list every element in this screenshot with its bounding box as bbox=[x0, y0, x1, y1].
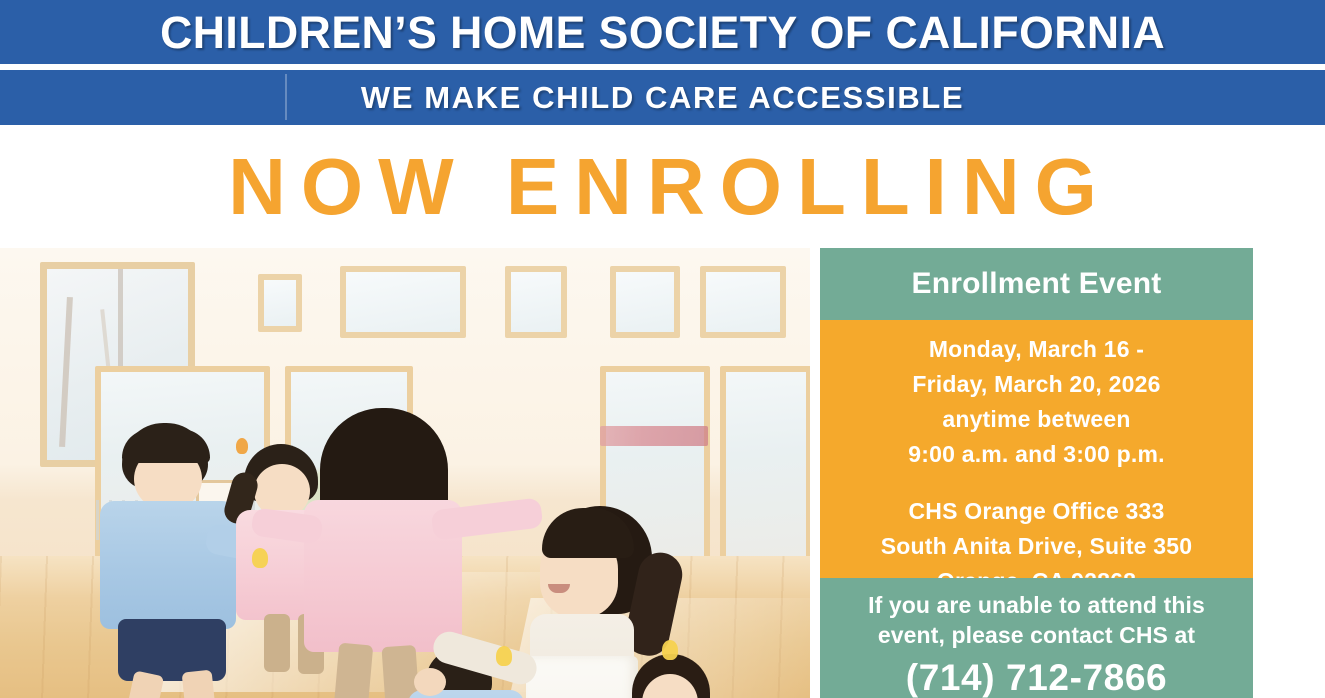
organization-name: CHILDREN’S HOME SOCIETY OF CALIFORNIA bbox=[160, 10, 1165, 55]
contact-band: If you are unable to attend this event, … bbox=[820, 578, 1253, 698]
contact-line: event, please contact CHS at bbox=[820, 620, 1253, 650]
event-title: Enrollment Event bbox=[912, 269, 1162, 299]
tagline-banner: WE MAKE CHILD CARE ACCESSIBLE bbox=[0, 70, 1325, 125]
child-smock bbox=[100, 501, 236, 629]
event-info-panel: Enrollment Event Monday, March 16 - Frid… bbox=[820, 248, 1253, 698]
photo-window-small bbox=[505, 266, 567, 338]
classroom-photo bbox=[0, 248, 810, 698]
now-enrolling-headline: NOW ENROLLING bbox=[213, 147, 1112, 227]
child-hair-fringe bbox=[122, 429, 210, 463]
event-address-line: South Anita Drive, Suite 350 bbox=[820, 529, 1253, 564]
photo-outside-scenery bbox=[600, 426, 708, 446]
organization-banner: CHILDREN’S HOME SOCIETY OF CALIFORNIA bbox=[0, 0, 1325, 64]
photo-decoration bbox=[662, 640, 678, 660]
event-time-line: 9:00 a.m. and 3:00 p.m. bbox=[820, 437, 1253, 472]
contact-phone-number[interactable]: (714) 712-7866 bbox=[820, 654, 1253, 698]
photo-decoration bbox=[252, 548, 268, 568]
photo-decoration bbox=[496, 646, 512, 666]
event-time-line: anytime between bbox=[820, 402, 1253, 437]
contact-line: If you are unable to attend this bbox=[820, 590, 1253, 620]
event-title-band: Enrollment Event bbox=[820, 248, 1253, 320]
photo-decoration bbox=[236, 438, 248, 454]
headline-area: NOW ENROLLING bbox=[0, 125, 1325, 248]
photo-window-low bbox=[720, 366, 810, 581]
flyer-root: CHILDREN’S HOME SOCIETY OF CALIFORNIA WE… bbox=[0, 0, 1325, 698]
event-date-line: Monday, March 16 - bbox=[820, 332, 1253, 367]
event-details-band: Monday, March 16 - Friday, March 20, 202… bbox=[820, 320, 1253, 578]
child-leg bbox=[182, 670, 217, 698]
spacer bbox=[820, 472, 1253, 494]
child-leg bbox=[333, 643, 373, 698]
photo-window-small bbox=[610, 266, 680, 338]
teacher-hand bbox=[414, 668, 446, 696]
photo-child-right bbox=[618, 658, 758, 698]
photo-window-small bbox=[340, 266, 466, 338]
photo-tree bbox=[59, 297, 73, 447]
event-date-line: Friday, March 20, 2026 bbox=[820, 367, 1253, 402]
tagline-text: WE MAKE CHILD CARE ACCESSIBLE bbox=[361, 82, 964, 113]
photo-window-small bbox=[258, 274, 302, 332]
event-address-line: CHS Orange Office 333 bbox=[820, 494, 1253, 529]
photo-window-small bbox=[700, 266, 786, 338]
